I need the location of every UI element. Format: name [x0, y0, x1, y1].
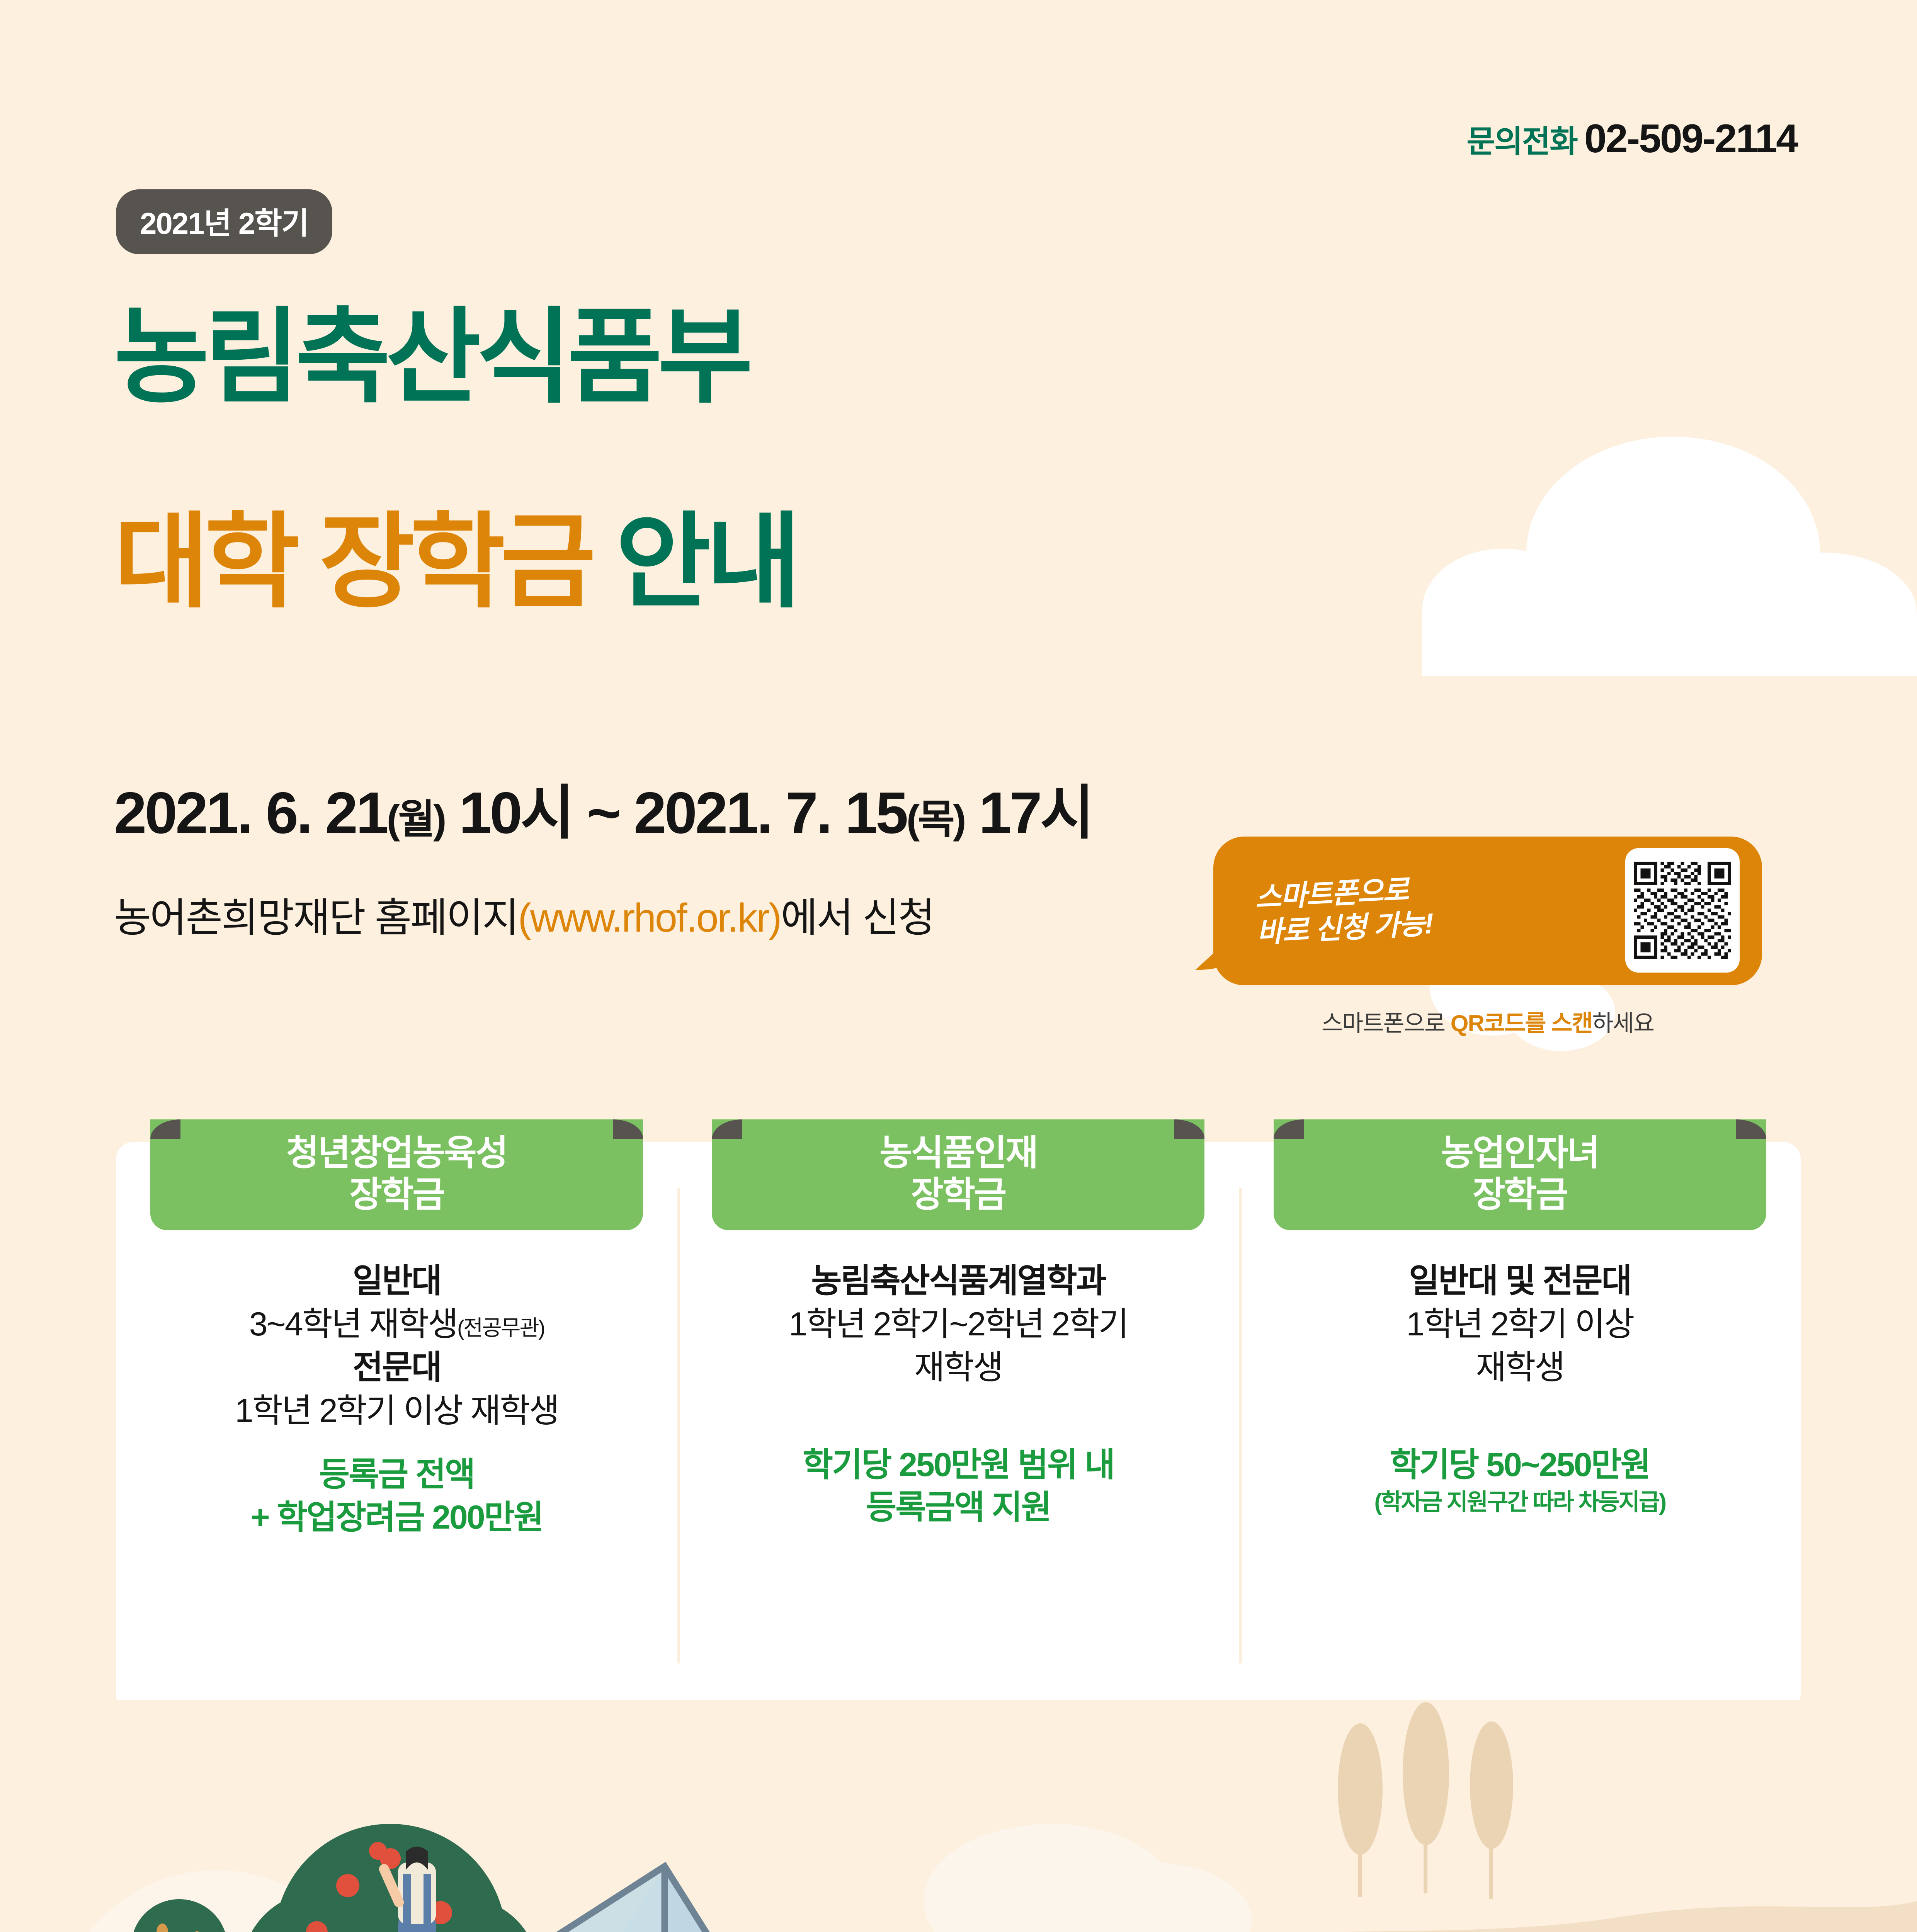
eligibility-line: 재학생	[1406, 1346, 1633, 1389]
qr-caption-prefix: 스마트폰으로	[1322, 1010, 1451, 1036]
scholarship-panel: 청년창업농육성 장학금 일반대 3~4학년 재학생(전공무관) 전문대 1학년 …	[116, 1142, 1801, 1712]
amount-line: 학기당 250만원 범위 내	[803, 1444, 1114, 1486]
scholarship-card[interactable]: 농업인자녀 장학금 일반대 및 전문대 1학년 2학기 이상 재학생 학기당 5…	[1239, 1142, 1801, 1712]
eligibility-line: 1학년 2학기~2학년 2학기	[789, 1303, 1128, 1346]
eligibility-line: 1학년 2학기 이상 재학생	[235, 1389, 558, 1433]
card-title-line2: 장학금	[1274, 1174, 1766, 1216]
qr-caption-highlight: QR코드를 스캔	[1451, 1010, 1592, 1036]
fold-corner-left-icon	[1274, 1119, 1304, 1139]
semester-badge: 2021년 2학기	[116, 189, 332, 254]
card-amount: 학기당 250만원 범위 내 등록금액 지원	[803, 1444, 1114, 1529]
card-title-line2: 장학금	[150, 1174, 643, 1216]
eligibility-line: 1학년 2학기 이상	[1406, 1303, 1633, 1346]
fold-corner-left-icon	[150, 1119, 180, 1139]
amount-line: 등록금액 지원	[803, 1486, 1114, 1529]
card-title-line2: 장학금	[712, 1174, 1204, 1216]
qr-slogan: 스마트폰으로 바로 신청 가능!	[1254, 871, 1434, 950]
scholarship-card[interactable]: 청년창업농육성 장학금 일반대 3~4학년 재학생(전공무관) 전문대 1학년 …	[116, 1142, 677, 1712]
apply-url[interactable]: (www.rhof.or.kr)	[518, 896, 781, 940]
eligibility-line: 3~4학년 재학생(전공무관)	[235, 1303, 558, 1346]
eligibility-line: 전문대	[235, 1346, 558, 1389]
period-start-date: 2021. 6. 21	[114, 780, 387, 846]
amount-line: + 학업장려금 200만원	[250, 1496, 543, 1539]
eligibility-line: 일반대	[235, 1260, 558, 1303]
page-title-guide: 안내	[616, 504, 797, 620]
fold-corner-left-icon	[712, 1119, 742, 1139]
period-end-date: 2021. 7. 15	[634, 780, 907, 846]
phone-number: 02-509-2114	[1584, 116, 1797, 162]
card-title-line1: 농업인자녀	[1274, 1133, 1766, 1174]
fold-corner-right-icon	[613, 1119, 643, 1139]
eligibility-note: (전공무관)	[457, 1316, 544, 1340]
eligibility-line: 농림축산식품계열학과	[789, 1260, 1128, 1303]
farm-illustration	[0, 1700, 1917, 1932]
amount-note: (학자금 지원구간 따라 차등지급)	[1374, 1488, 1666, 1517]
period-end-time: 17시	[979, 780, 1092, 846]
card-header: 청년창업농육성 장학금	[150, 1119, 643, 1230]
page-title-line2: 대학 장학금 안내	[114, 510, 797, 614]
eligibility-text: 3~4학년 재학생	[249, 1306, 457, 1343]
contact-phone: 문의전화 02-509-2114	[1467, 116, 1798, 162]
apply-suffix: 에서 신청	[781, 896, 934, 940]
card-amount: 등록금 전액 + 학업장려금 200만원	[250, 1453, 543, 1538]
amount-line: 학기당 50~250만원	[1374, 1444, 1666, 1486]
apply-prefix: 농어촌희망재단 홈페이지	[114, 896, 518, 940]
fold-corner-right-icon	[1736, 1119, 1766, 1139]
application-period: 2021. 6. 21(월) 10시 ~ 2021. 7. 15(목) 17시	[114, 765, 1092, 850]
scholarship-card-list: 청년창업농육성 장학금 일반대 3~4학년 재학생(전공무관) 전문대 1학년 …	[116, 1142, 1801, 1712]
phone-label: 문의전화	[1467, 117, 1577, 162]
card-eligibility: 일반대 3~4학년 재학생(전공무관) 전문대 1학년 2학기 이상 재학생	[235, 1260, 558, 1432]
card-title-line1: 청년창업농육성	[150, 1133, 643, 1174]
card-title-line1: 농식품인재	[712, 1133, 1204, 1174]
page-title-scholarship: 대학 장학금	[114, 504, 591, 620]
qr-speech-bubble: 스마트폰으로 바로 신청 가능!	[1213, 837, 1762, 985]
qr-caption: 스마트폰으로 QR코드를 스캔하세요	[1213, 1005, 1762, 1038]
qr-caption-suffix: 하세요	[1592, 1010, 1654, 1036]
qr-code-icon	[1634, 857, 1731, 964]
eligibility-line: 일반대 및 전문대	[1406, 1260, 1633, 1303]
qr-code-box[interactable]	[1625, 848, 1740, 973]
period-end-day: (목)	[907, 797, 964, 842]
scholarship-card[interactable]: 농식품인재 장학금 농림축산식품계열학과 1학년 2학기~2학년 2학기 재학생…	[677, 1142, 1239, 1712]
card-eligibility: 일반대 및 전문대 1학년 2학기 이상 재학생	[1406, 1260, 1633, 1389]
card-header: 농식품인재 장학금	[712, 1119, 1204, 1230]
card-amount: 학기당 50~250만원 (학자금 지원구간 따라 차등지급)	[1374, 1444, 1666, 1517]
amount-line: 등록금 전액	[250, 1453, 543, 1496]
period-separator: ~	[587, 780, 619, 846]
period-start-time: 10시	[459, 780, 573, 846]
application-website-line: 농어촌희망재단 홈페이지(www.rhof.or.kr)에서 신청	[114, 885, 934, 943]
eligibility-line: 재학생	[789, 1346, 1128, 1389]
card-eligibility: 농림축산식품계열학과 1학년 2학기~2학년 2학기 재학생	[789, 1260, 1128, 1389]
page-title-line1: 농림축산식품부	[114, 305, 748, 409]
card-header: 농업인자녀 장학금	[1274, 1119, 1766, 1230]
period-start-day: (월)	[387, 797, 445, 842]
fold-corner-right-icon	[1174, 1119, 1204, 1139]
